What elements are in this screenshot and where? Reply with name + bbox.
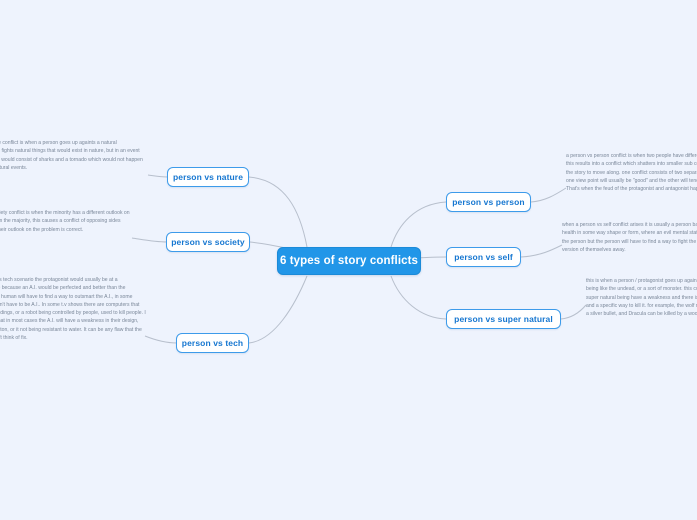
connector-to-person — [391, 202, 446, 247]
connector-person-to-note — [531, 188, 566, 202]
note-person-vs-super-natural: this is when a person / protagonist goes… — [586, 277, 697, 323]
branch-node-person-vs-self[interactable]: person vs self — [446, 247, 521, 267]
note-person-vs-person: a person vs person conflict is when two … — [566, 152, 697, 198]
connector-nature-to-note — [148, 175, 168, 177]
connector-self-to-note — [521, 245, 562, 257]
branch-node-person-vs-nature[interactable]: person vs nature — [167, 167, 249, 187]
note-person-vs-nature: person vs nature conflict is when a pers… — [0, 139, 148, 175]
branch-node-person-vs-super-natural[interactable]: person vs super natural — [446, 309, 561, 329]
connector-supernatural-to-note — [561, 305, 586, 319]
branch-label: person vs super natural — [454, 314, 553, 324]
connector-to-tech — [249, 276, 307, 343]
branch-label: person vs tech — [182, 338, 243, 348]
central-node-label: 6 types of story conflicts — [280, 255, 418, 267]
note-person-vs-tech: in a person vs tech scenario the protago… — [0, 276, 146, 342]
branch-label: person vs society — [171, 237, 245, 247]
branch-node-person-vs-person[interactable]: person vs person — [446, 192, 531, 212]
central-node[interactable]: 6 types of story conflicts — [277, 247, 421, 275]
note-person-vs-self: when a person vs self conflict arises it… — [562, 221, 697, 259]
note-person-vs-society: person vs society conflict is when the m… — [0, 209, 133, 245]
mindmap-canvas: 6 types of story conflicts person vs nat… — [0, 0, 697, 520]
branch-label: person vs self — [454, 252, 513, 262]
connector-tech-to-note — [145, 336, 177, 343]
connector-society-to-note — [132, 238, 167, 242]
connector-to-supernatural — [391, 276, 446, 319]
branch-label: person vs nature — [173, 172, 243, 182]
connector-to-nature — [249, 177, 307, 247]
branch-node-person-vs-tech[interactable]: person vs tech — [176, 333, 249, 353]
branch-node-person-vs-society[interactable]: person vs society — [166, 232, 250, 252]
branch-label: person vs person — [452, 197, 524, 207]
